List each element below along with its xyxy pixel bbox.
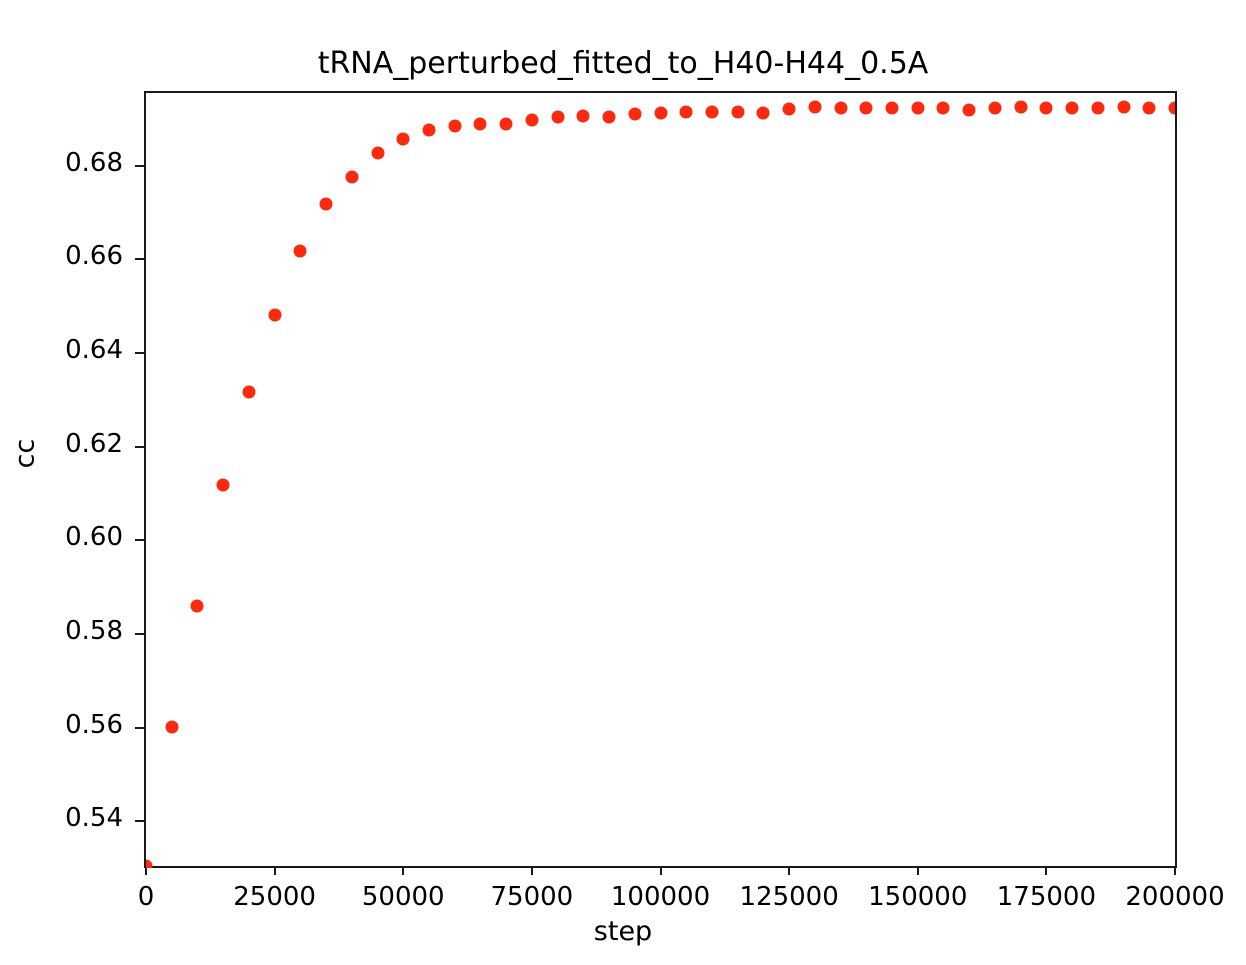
y-axis-tick-label: 0.54: [65, 803, 123, 833]
chart-title: tRNA_perturbed_fitted_to_H40-H44_0.5A: [0, 46, 1246, 81]
data-point: [268, 308, 281, 321]
y-axis-tick: [135, 727, 144, 729]
data-point: [217, 479, 230, 492]
x-axis-tick-label: 50000: [362, 882, 445, 912]
data-point: [371, 146, 384, 159]
y-axis-tick-label: 0.62: [65, 429, 123, 459]
y-axis-tick: [135, 820, 144, 822]
x-axis-tick-label: 150000: [868, 882, 967, 912]
data-point: [242, 385, 255, 398]
data-point: [1040, 101, 1053, 114]
data-point: [860, 101, 873, 114]
data-point: [1117, 101, 1130, 114]
data-point: [1143, 101, 1156, 114]
x-axis-tick-label: 125000: [739, 882, 838, 912]
y-axis-tick: [135, 633, 144, 635]
data-point: [474, 118, 487, 131]
data-point: [345, 170, 358, 183]
x-axis-tick-label: 75000: [491, 882, 574, 912]
data-point: [886, 102, 899, 115]
data-point: [500, 118, 513, 131]
data-point: [654, 106, 667, 119]
y-axis-tick-label: 0.64: [65, 335, 123, 365]
x-axis-tick-label: 0: [138, 882, 155, 912]
data-point: [705, 105, 718, 118]
data-point: [937, 102, 950, 115]
data-points-layer: [146, 93, 1175, 868]
data-point: [577, 109, 590, 122]
data-point: [628, 107, 641, 120]
data-point: [911, 101, 924, 114]
data-point: [1169, 101, 1176, 114]
y-axis-tick-label: 0.68: [65, 148, 123, 178]
y-axis-tick: [135, 539, 144, 541]
y-axis-tick-label: 0.66: [65, 241, 123, 271]
data-point: [808, 101, 821, 114]
data-point: [294, 245, 307, 258]
y-axis-tick: [135, 165, 144, 167]
data-point: [146, 860, 153, 869]
y-axis-tick: [135, 352, 144, 354]
axis-spine-right: [1175, 91, 1177, 868]
x-axis-tick-label: 100000: [611, 882, 710, 912]
data-point: [397, 133, 410, 146]
figure-canvas: tRNA_perturbed_fitted_to_H40-H44_0.5A cc…: [0, 0, 1246, 965]
data-point: [525, 114, 538, 127]
data-point: [834, 101, 847, 114]
data-point: [1066, 101, 1079, 114]
data-point: [165, 721, 178, 734]
data-point: [680, 106, 693, 119]
data-point: [603, 111, 616, 124]
y-axis-tick-label: 0.60: [65, 522, 123, 552]
data-point: [963, 103, 976, 116]
x-axis-tick-label: 175000: [997, 882, 1096, 912]
data-point: [191, 599, 204, 612]
y-axis-tick: [135, 258, 144, 260]
data-point: [1091, 102, 1104, 115]
y-axis-tick-label: 0.58: [65, 616, 123, 646]
plot-area: 0.540.560.580.600.620.640.660.68 0250005…: [146, 93, 1175, 866]
y-axis-tick: [135, 446, 144, 448]
data-point: [448, 119, 461, 132]
y-axis-tick-label: 0.56: [65, 710, 123, 740]
data-point: [988, 102, 1001, 115]
data-point: [731, 105, 744, 118]
x-axis-tick-labels: 0250005000075000100000125000150000175000…: [146, 882, 1175, 922]
data-point: [1014, 101, 1027, 114]
data-point: [757, 106, 770, 119]
x-axis-tick-label: 25000: [233, 882, 316, 912]
x-axis-tick-label: 200000: [1125, 882, 1224, 912]
data-point: [422, 124, 435, 137]
y-axis-tick-labels: 0.540.560.580.600.620.640.660.68: [1, 93, 123, 866]
data-point: [551, 111, 564, 124]
data-point: [320, 198, 333, 211]
data-point: [783, 102, 796, 115]
